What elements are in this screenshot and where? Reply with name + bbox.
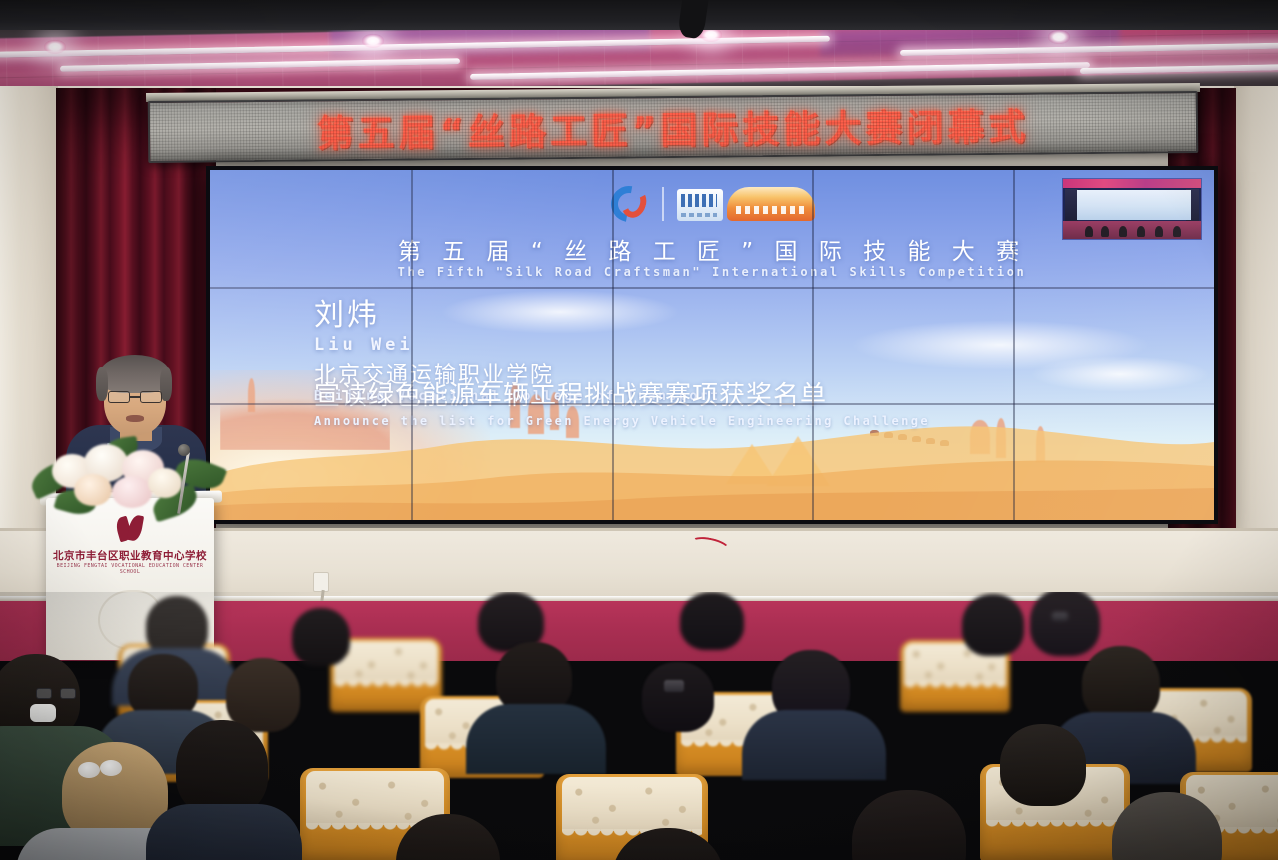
pip-head-4 [1137, 226, 1145, 237]
logo-divider [662, 187, 664, 221]
pip-head-2 [1101, 226, 1109, 237]
hair-clip-icon-1 [1052, 612, 1068, 621]
hair-scrunchie-icon-2 [100, 760, 122, 776]
video-wall-display[interactable]: 第 五 届 “ 丝 路 工 匠 ” 国 际 技 能 大 赛 The Fifth … [206, 166, 1218, 524]
pip-head-6 [1173, 226, 1181, 237]
slide-announcement-block: 宣读绿色能源车辆工程挑战赛赛项获奖名单 Announce the list fo… [314, 375, 930, 428]
pip-led-banner [1063, 179, 1201, 188]
speaker-name-cn: 刘炜 [314, 290, 721, 334]
audience-head-b6 [642, 662, 714, 732]
audience-head-a4 [680, 592, 744, 650]
audience-head-c6 [852, 790, 966, 860]
speaker-name-en: Liu Wei [314, 335, 721, 355]
presenter-hair-side-left [96, 367, 108, 401]
spotlight-2 [362, 34, 384, 48]
microphone-icon [178, 444, 190, 456]
audience-glasses-icon [36, 688, 76, 699]
audience-head-a6 [1030, 592, 1100, 656]
audience-shoulders-c3 [146, 804, 302, 860]
pip-head-1 [1085, 226, 1093, 237]
podium-org-cn: 北京市丰台区职业教育中心学校 [46, 548, 214, 563]
led-banner-text: 第五届“丝路工匠”国际技能大赛闭幕式 [316, 97, 1029, 158]
slide-title-en: The Fifth "Silk Road Craftsman" Internat… [210, 265, 1214, 279]
audience-head-c3 [176, 720, 268, 816]
hair-scrunchie-icon-1 [78, 762, 100, 778]
audience-shoulders-b4 [742, 710, 886, 780]
school-logo-icon [115, 514, 145, 544]
face-mask-icon [30, 704, 56, 722]
spotlight-3 [700, 28, 722, 42]
presentation-slide: 第 五 届 “ 丝 路 工 匠 ” 国 际 技 能 大 赛 The Fifth … [210, 170, 1214, 520]
competition-emblem-logo-icon [677, 187, 815, 221]
spotlight-4 [1048, 30, 1070, 44]
led-banner: 第五届“丝路工匠”国际技能大赛闭幕式 [148, 91, 1199, 163]
ceiling-beam [0, 0, 1278, 30]
hair-clip-icon-2 [664, 680, 684, 692]
spotlight-1 [44, 40, 66, 54]
cloud-wisp-3 [1030, 356, 1210, 392]
audience-head-b5 [1082, 646, 1160, 722]
audience-head-c8 [1000, 724, 1086, 806]
audience-head-a2 [292, 608, 350, 666]
pip-head-3 [1119, 226, 1127, 237]
announcement-en: Announce the list for Green Energy Vehic… [314, 414, 930, 428]
pip-screen [1077, 190, 1191, 220]
live-camera-feed-pip[interactable] [1062, 178, 1202, 240]
audience-shoulders-b3 [466, 704, 606, 774]
audience-area [0, 592, 1278, 860]
auditorium-scene: 第五届“丝路工匠”国际技能大赛闭幕式 [0, 0, 1278, 860]
presenter-mouth [126, 415, 144, 422]
ceiling [0, 0, 1278, 92]
audience-head-a5 [962, 594, 1024, 656]
flower-arrangement [26, 432, 226, 518]
pip-head-5 [1155, 226, 1163, 237]
podium-org-en: BEIJING FENGTAI VOCATIONAL EDUCATION CEN… [46, 563, 214, 575]
silk-road-swirl-logo-icon [609, 184, 649, 224]
presenter-glasses-icon [108, 391, 162, 403]
audience-head-b2 [226, 658, 300, 732]
announcement-cn: 宣读绿色能源车辆工程挑战赛赛项获奖名单 [314, 375, 930, 412]
